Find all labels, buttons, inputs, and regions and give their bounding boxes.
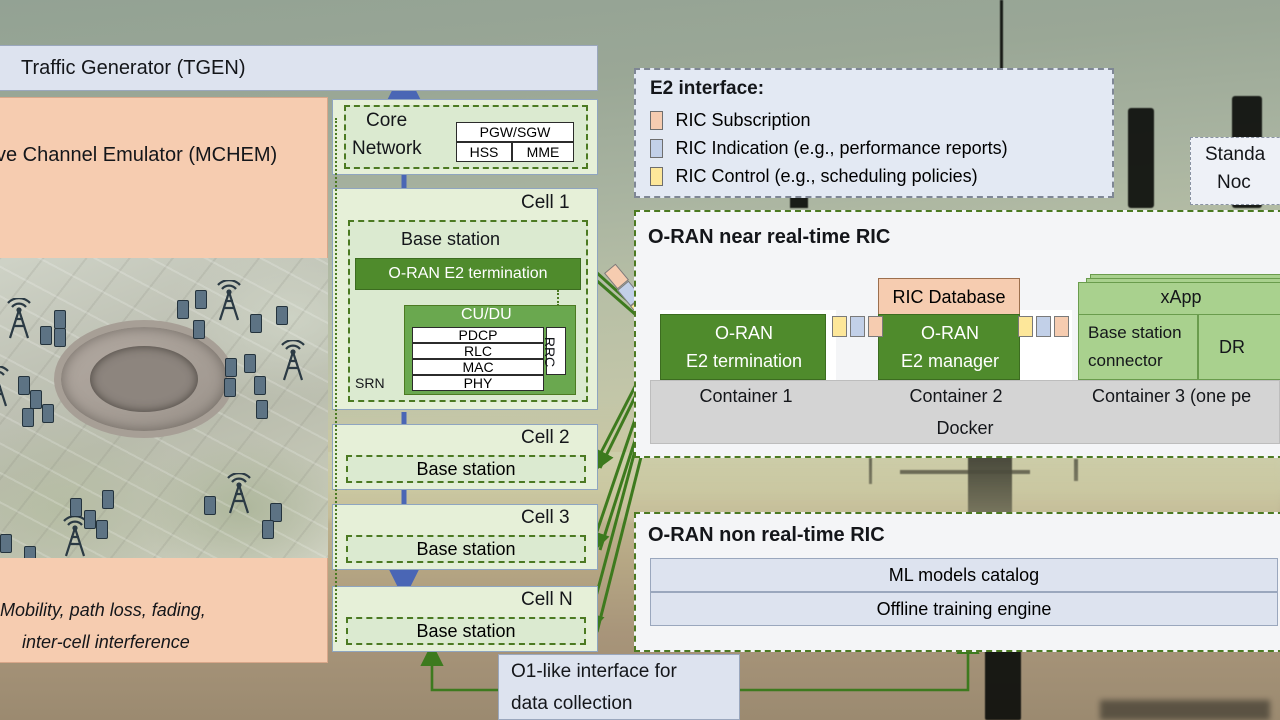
legend-label-subscription: RIC Subscription [675,110,810,130]
o1-line2: data collection [511,693,632,715]
ric-e2-termination[interactable]: O-RAN E2 termination [660,314,826,380]
background-mast-9 [985,640,1021,720]
handset-icon [102,490,114,509]
core-network-label-line2: Network [352,138,422,160]
aerial-photo [0,258,328,558]
non-rt-ric-title: O-RAN non real-time RIC [648,524,885,547]
cell-1-layer-pdcp[interactable]: PDCP [412,327,544,343]
cell-1-layer-mac[interactable]: MAC [412,359,544,375]
xapp-connector-line2: connector [1088,351,1163,371]
handset-icon [225,358,237,377]
standalone-node-line2: Noc [1217,172,1251,194]
offline-training-engine[interactable]: Offline training engine [650,592,1278,626]
background-mast-10 [1100,700,1270,720]
cell-1-e2-termination[interactable]: O-RAN E2 termination [355,258,581,290]
handset-icon [54,310,66,329]
legend-item-indication: RIC Indication (e.g., performance report… [650,138,1008,159]
ml-models-catalog[interactable]: ML models catalog [650,558,1278,592]
handset-icon [224,378,236,397]
channel-emulator-label: ve Channel Emulator (MCHEM) [0,144,277,167]
core-mme[interactable]: MME [512,142,574,162]
handset-icon [96,520,108,539]
legend-swatch-subscription [650,111,663,130]
legend-swatch-control [650,167,663,186]
handset-icon [193,320,205,339]
xapp-connector-line1: Base station [1088,323,1182,343]
core-network-label-line1: Core [366,110,407,132]
background-mast-1 [1000,0,1003,72]
handset-icon [18,376,30,395]
cell-1-layer-phy[interactable]: PHY [412,375,544,391]
cell-1-srn-label: SRN [355,375,385,391]
handset-icon [276,306,288,325]
handset-icon [22,408,34,427]
token-control-left [832,316,847,337]
cell-tower-icon [0,366,14,408]
ric-database[interactable]: RIC Database [878,278,1020,316]
cell-2-label: Cell 2 [521,427,570,449]
cell-1-rrc-label: RRC [542,337,558,367]
e2-interface-legend: E2 interface: RIC Subscription RIC Indic… [634,68,1114,198]
handset-icon [24,546,36,558]
core-pgw-sgw[interactable]: PGW/SGW [456,122,574,142]
xapp-base-station-connector[interactable]: Base station connector [1078,314,1198,380]
cell-2-base-station[interactable]: Base station [346,455,586,483]
handset-icon [250,314,262,333]
container-1-label: Container 1 [656,386,836,407]
legend-swatch-indication [650,139,663,158]
handset-icon [40,326,52,345]
token-indication-right [1036,316,1051,337]
cell-1-rrc[interactable]: RRC [546,327,566,375]
handset-icon [256,400,268,419]
cell-tower-icon [222,473,256,515]
traffic-generator-label: Traffic Generator (TGEN) [21,57,246,80]
cell-3-base-station[interactable]: Base station [346,535,586,563]
handset-icon [204,496,216,515]
legend-label-indication: RIC Indication (e.g., performance report… [675,138,1007,158]
o1-line1: O1-like interface for [511,661,677,683]
token-control-right [1018,316,1033,337]
handset-icon [84,510,96,529]
handset-icon [42,404,54,423]
handset-icon [177,300,189,319]
legend-item-control: RIC Control (e.g., scheduling policies) [650,166,978,187]
cell-1-layer-rlc[interactable]: RLC [412,343,544,359]
cell-3-label: Cell 3 [521,507,570,529]
standalone-node-box[interactable]: Standa Noc [1190,137,1280,205]
xapp-second-label: DR [1219,337,1245,358]
cell-n-label: Cell N [521,589,573,611]
standalone-node-line1: Standa [1205,144,1265,166]
cell-1-dotted-link [557,290,559,306]
handset-icon [254,376,266,395]
legend-item-subscription: RIC Subscription [650,110,811,131]
cell-n-base-station[interactable]: Base station [346,617,586,645]
token-subscription-left [868,316,883,337]
docker-label: Docker [650,418,1280,439]
cell-tower-icon [276,340,310,382]
emulator-caption-line1: Mobility, path loss, fading, [0,600,206,621]
ric-e2-manager[interactable]: O-RAN E2 manager [878,314,1020,380]
handset-icon [0,534,12,553]
handset-icon [262,520,274,539]
cell-tower-icon [212,280,246,322]
core-hss[interactable]: HSS [456,142,512,162]
ric-e2-manager-line1: O-RAN [879,323,1021,344]
token-subscription-right [1054,316,1069,337]
handset-icon [30,390,42,409]
container-3-label: Container 3 (one pe [1092,386,1251,407]
cell-1-cudu-label: CU/DU [461,306,512,324]
cell-1-base-station-label: Base station [401,229,500,250]
cell-spine-dotted [335,118,337,642]
token-indication-left [850,316,865,337]
xapp-second-module[interactable]: DR [1198,314,1280,380]
container-2-label: Container 2 [866,386,1046,407]
ric-e2-termination-line2: E2 termination [661,351,827,372]
background-mast-2 [1128,108,1154,208]
handset-icon [244,354,256,373]
legend-title: E2 interface: [650,78,764,100]
cell-1-label: Cell 1 [521,192,570,214]
emulator-caption-line2: inter-cell interference [22,632,190,653]
traffic-generator-box[interactable]: Traffic Generator (TGEN) [0,45,598,91]
ric-e2-manager-line2: E2 manager [879,351,1021,372]
ric-e2-termination-line1: O-RAN [661,323,827,344]
handset-icon [70,498,82,517]
o1-interface-box[interactable]: O1-like interface for data collection [498,654,740,720]
handset-icon [195,290,207,309]
xapp-label: xApp [1078,287,1280,308]
near-rt-ric-title: O-RAN near real-time RIC [648,226,890,249]
handset-icon [54,328,66,347]
cell-tower-icon [2,298,36,340]
legend-label-control: RIC Control (e.g., scheduling policies) [675,166,977,186]
